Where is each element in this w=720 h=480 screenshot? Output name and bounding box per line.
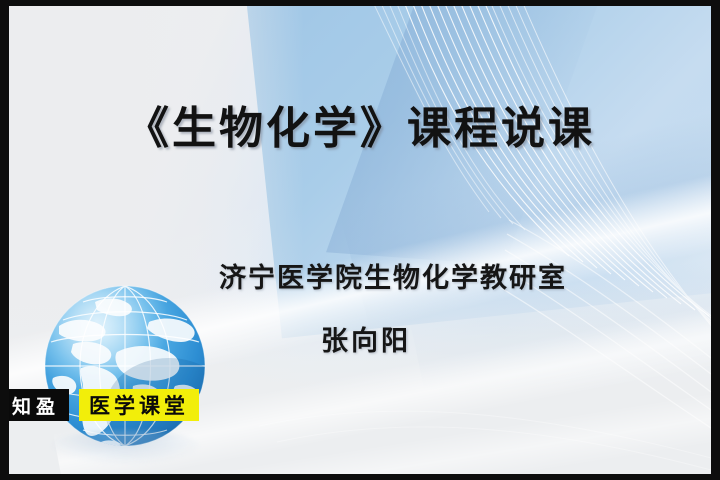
watermark-brand: 知盈 [9, 389, 69, 421]
letterbox-left [0, 0, 9, 480]
globe-icon [29, 282, 221, 472]
letterbox-bottom [0, 474, 720, 480]
slide-presenter-name: 张向阳 [9, 319, 711, 358]
letterbox-right [711, 0, 720, 480]
watermark-channel-badge: 医学课堂 [79, 389, 199, 421]
globe-reflection [49, 430, 201, 464]
slide-subtitle: 济宁医学院生物化学教研室 [9, 256, 711, 295]
slide-title: 《生物化学》课程说课 [9, 92, 711, 156]
presentation-slide: 《生物化学》课程说课 济宁医学院生物化学教研室 张向阳 [9, 6, 711, 474]
channel-watermark: 知盈 医学课堂 [9, 389, 199, 421]
watermark-gap [69, 389, 79, 421]
video-frame: 《生物化学》课程说课 济宁医学院生物化学教研室 张向阳 [0, 0, 720, 480]
letterbox-top [0, 0, 720, 6]
